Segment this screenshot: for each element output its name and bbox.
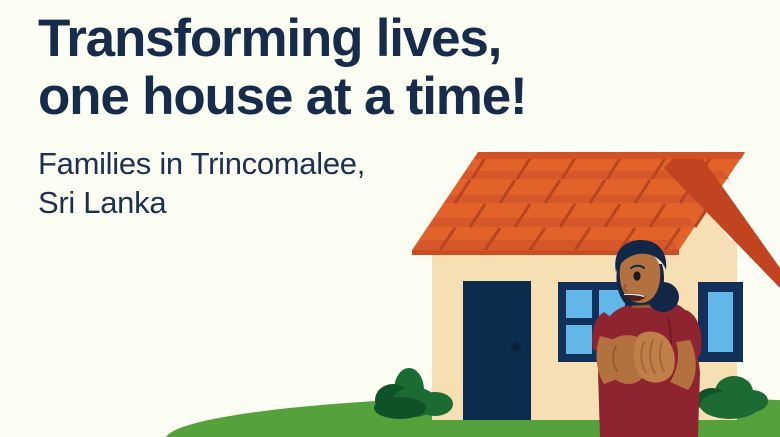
door-knob — [512, 343, 521, 352]
page-title-line-1: Transforming lives, — [38, 10, 658, 68]
woman-eye — [633, 271, 640, 280]
text-block: Transforming lives, one house at a time!… — [38, 10, 658, 222]
banner-card: Transforming lives, one house at a time!… — [0, 0, 780, 437]
right-window — [698, 282, 743, 362]
front-door — [463, 281, 531, 420]
subtitle-line-2: Sri Lanka — [38, 183, 658, 222]
page-title-line-2: one house at a time! — [38, 68, 658, 126]
subtitle-line-1: Families in Trincomalee, — [38, 126, 658, 183]
